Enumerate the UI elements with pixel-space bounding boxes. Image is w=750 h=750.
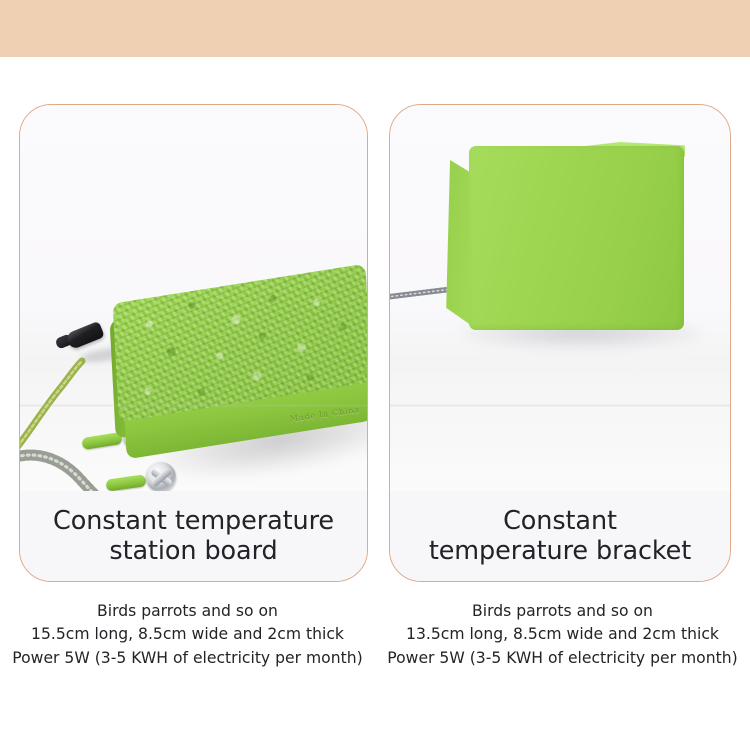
- description-line-species: Birds parrots and so on: [0, 600, 375, 623]
- card-title-bracket: Constant temperature bracket: [429, 506, 691, 566]
- description-bracket: Birds parrots and so on 13.5cm long, 8.5…: [375, 600, 750, 670]
- description-line-power: Power 5W (3-5 KWH of electricity per mon…: [0, 647, 375, 670]
- textured-heating-board: Made In China: [113, 262, 367, 493]
- description-line-dimensions: 13.5cm long, 8.5cm wide and 2cm thick: [375, 623, 750, 646]
- decorative-top-band: [0, 0, 750, 57]
- product-cards-container: Made In China Constant temperature stati…: [0, 104, 750, 582]
- product-comparison-page: Made In China Constant temperature stati…: [0, 0, 750, 750]
- card-title-line-1: Constant: [503, 506, 617, 536]
- product-card-bracket[interactable]: Constant temperature bracket: [389, 104, 731, 582]
- card-title-line-2: temperature bracket: [429, 536, 691, 566]
- card-title-line-1: Constant temperature: [53, 506, 334, 536]
- bracket-front-face: [469, 146, 684, 330]
- description-line-species: Birds parrots and so on: [375, 600, 750, 623]
- product-photo-station-board: Made In China: [20, 105, 367, 493]
- product-descriptions: Birds parrots and so on 15.5cm long, 8.5…: [0, 600, 750, 670]
- caption-station-board: Constant temperature station board: [20, 491, 367, 581]
- product-card-station-board[interactable]: Made In China Constant temperature stati…: [19, 104, 368, 582]
- made-in-china-embossed-text: Made In China: [289, 405, 360, 424]
- caption-bracket: Constant temperature bracket: [390, 491, 730, 581]
- product-photo-bracket: [390, 105, 730, 493]
- description-line-dimensions: 15.5cm long, 8.5cm wide and 2cm thick: [0, 623, 375, 646]
- card-title-line-2: station board: [53, 536, 334, 566]
- description-station-board: Birds parrots and so on 15.5cm long, 8.5…: [0, 600, 375, 670]
- description-line-power: Power 5W (3-5 KWH of electricity per mon…: [375, 647, 750, 670]
- card-title-station-board: Constant temperature station board: [53, 506, 334, 566]
- smooth-heating-bracket: [443, 134, 703, 349]
